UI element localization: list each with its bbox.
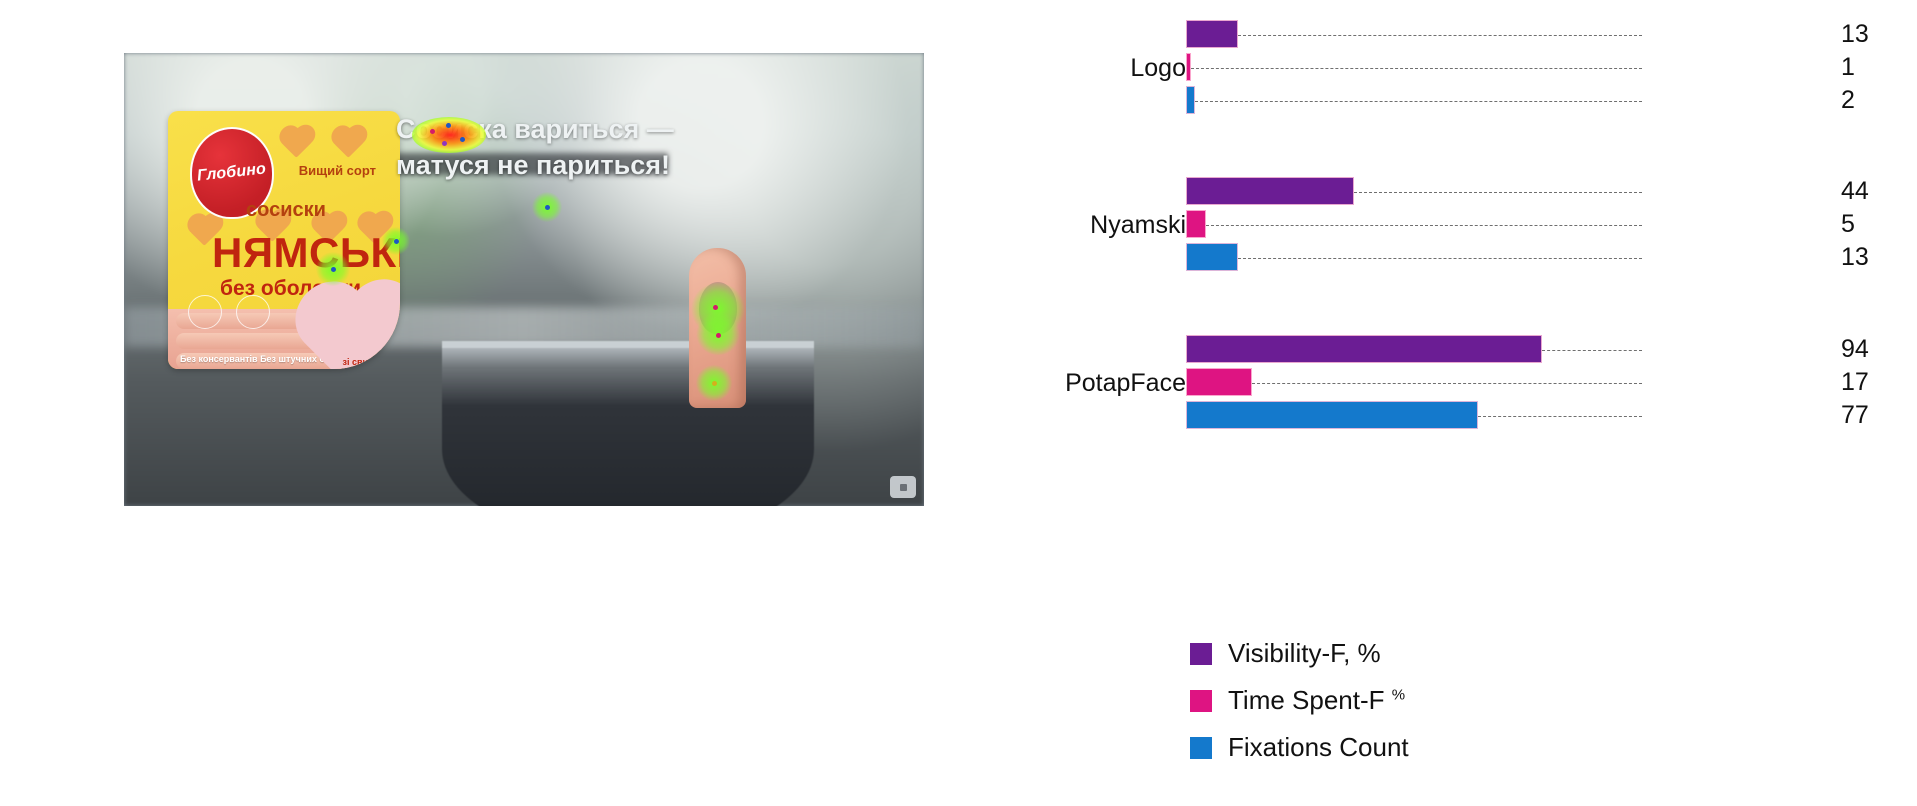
bar-chart: Logo 13 1 2 Nyamski 44 5 [1000, 0, 1917, 806]
cooking-pot [442, 341, 814, 506]
package-title: НЯМСЬКІ [212, 229, 400, 277]
bar-logo-visibility[interactable] [1186, 20, 1238, 48]
legend-label-time-spent-sup: % [1392, 686, 1405, 703]
package-certification-icons [188, 295, 270, 329]
value-potapface-time-spent: 17 [1841, 368, 1911, 397]
leader-line [1542, 350, 1642, 351]
category-label-logo: Logo [1000, 54, 1186, 83]
value-potapface-fixations: 77 [1841, 401, 1911, 430]
stimulus-image[interactable]: Глобино Вищий сорт сосиски НЯМСЬКІ без о… [124, 53, 924, 506]
bar-nyamski-visibility[interactable] [1186, 177, 1354, 205]
leader-line [1252, 383, 1642, 384]
legend-swatch-visibility [1190, 643, 1212, 665]
package-subtitle: сосиски [246, 199, 326, 222]
leader-line [1354, 192, 1642, 193]
bar-potapface-fixations[interactable] [1186, 401, 1478, 429]
legend-label-time-spent: Time Spent-F [1228, 685, 1392, 715]
no-gluten-icon [188, 295, 222, 329]
bar-nyamski-fixations[interactable] [1186, 243, 1238, 271]
package-window: Без консервантів Без штучних барвників з… [168, 309, 400, 369]
legend-label-fixations: Fixations Count [1228, 732, 1409, 763]
video-control-button[interactable] [890, 476, 916, 498]
value-nyamski-visibility: 44 [1841, 177, 1911, 206]
leader-line [1206, 225, 1642, 226]
chart-legend: Visibility-F, % Time Spent-F % Fixations… [1190, 630, 1409, 771]
legend-item-visibility[interactable]: Visibility-F, % [1190, 630, 1409, 677]
bar-group-logo: Logo 13 1 2 [1000, 14, 1917, 118]
legend-swatch-time-spent [1190, 690, 1212, 712]
legend-swatch-fixations [1190, 737, 1212, 759]
value-nyamski-time-spent: 5 [1841, 210, 1911, 239]
bar-group-potapface: PotapFace 94 17 77 [1000, 329, 1917, 433]
bar-logo-fixations[interactable] [1186, 86, 1195, 114]
no-additives-icon [236, 295, 270, 329]
legend-item-fixations[interactable]: Fixations Count [1190, 724, 1409, 771]
bar-row-container: 13 1 2 [1186, 14, 1917, 118]
bar-potapface-time-spent[interactable] [1186, 368, 1252, 396]
legend-item-time-spent[interactable]: Time Spent-F % [1190, 677, 1409, 724]
category-label-nyamski: Nyamski [1000, 211, 1186, 240]
value-potapface-visibility: 94 [1841, 335, 1911, 364]
value-logo-time-spent: 1 [1841, 53, 1911, 82]
overlay-text-line-2: матуся не париться! [396, 147, 674, 183]
pork-label: зі свинини [343, 357, 390, 367]
package-grade-label: Вищий сорт [299, 163, 376, 178]
bar-group-nyamski: Nyamski 44 5 13 [1000, 171, 1917, 275]
sausage-face [699, 282, 737, 334]
product-package: Глобино Вищий сорт сосиски НЯМСЬКІ без о… [168, 111, 400, 369]
page-root: Глобино Вищий сорт сосиски НЯМСЬКІ без о… [0, 0, 1917, 806]
legend-label-visibility: Visibility-F, % [1228, 638, 1381, 669]
bar-row-container: 94 17 77 [1186, 329, 1917, 433]
leader-line [1238, 35, 1642, 36]
leader-line [1195, 101, 1642, 102]
value-logo-fixations: 2 [1841, 86, 1911, 115]
bar-potapface-visibility[interactable] [1186, 335, 1542, 363]
bar-row-container: 44 5 13 [1186, 171, 1917, 275]
sausage-character [689, 248, 746, 408]
brand-name: Глобино [197, 160, 268, 185]
leader-line [1238, 258, 1642, 259]
bar-logo-time-spent[interactable] [1186, 53, 1191, 81]
bar-nyamski-time-spent[interactable] [1186, 210, 1206, 238]
value-nyamski-fixations: 13 [1841, 243, 1911, 272]
leader-line [1191, 68, 1642, 69]
legend-label-time-spent-wrap: Time Spent-F % [1228, 685, 1405, 716]
value-logo-visibility: 13 [1841, 20, 1911, 49]
category-label-potapface: PotapFace [1000, 369, 1186, 398]
leader-line [1478, 416, 1642, 417]
